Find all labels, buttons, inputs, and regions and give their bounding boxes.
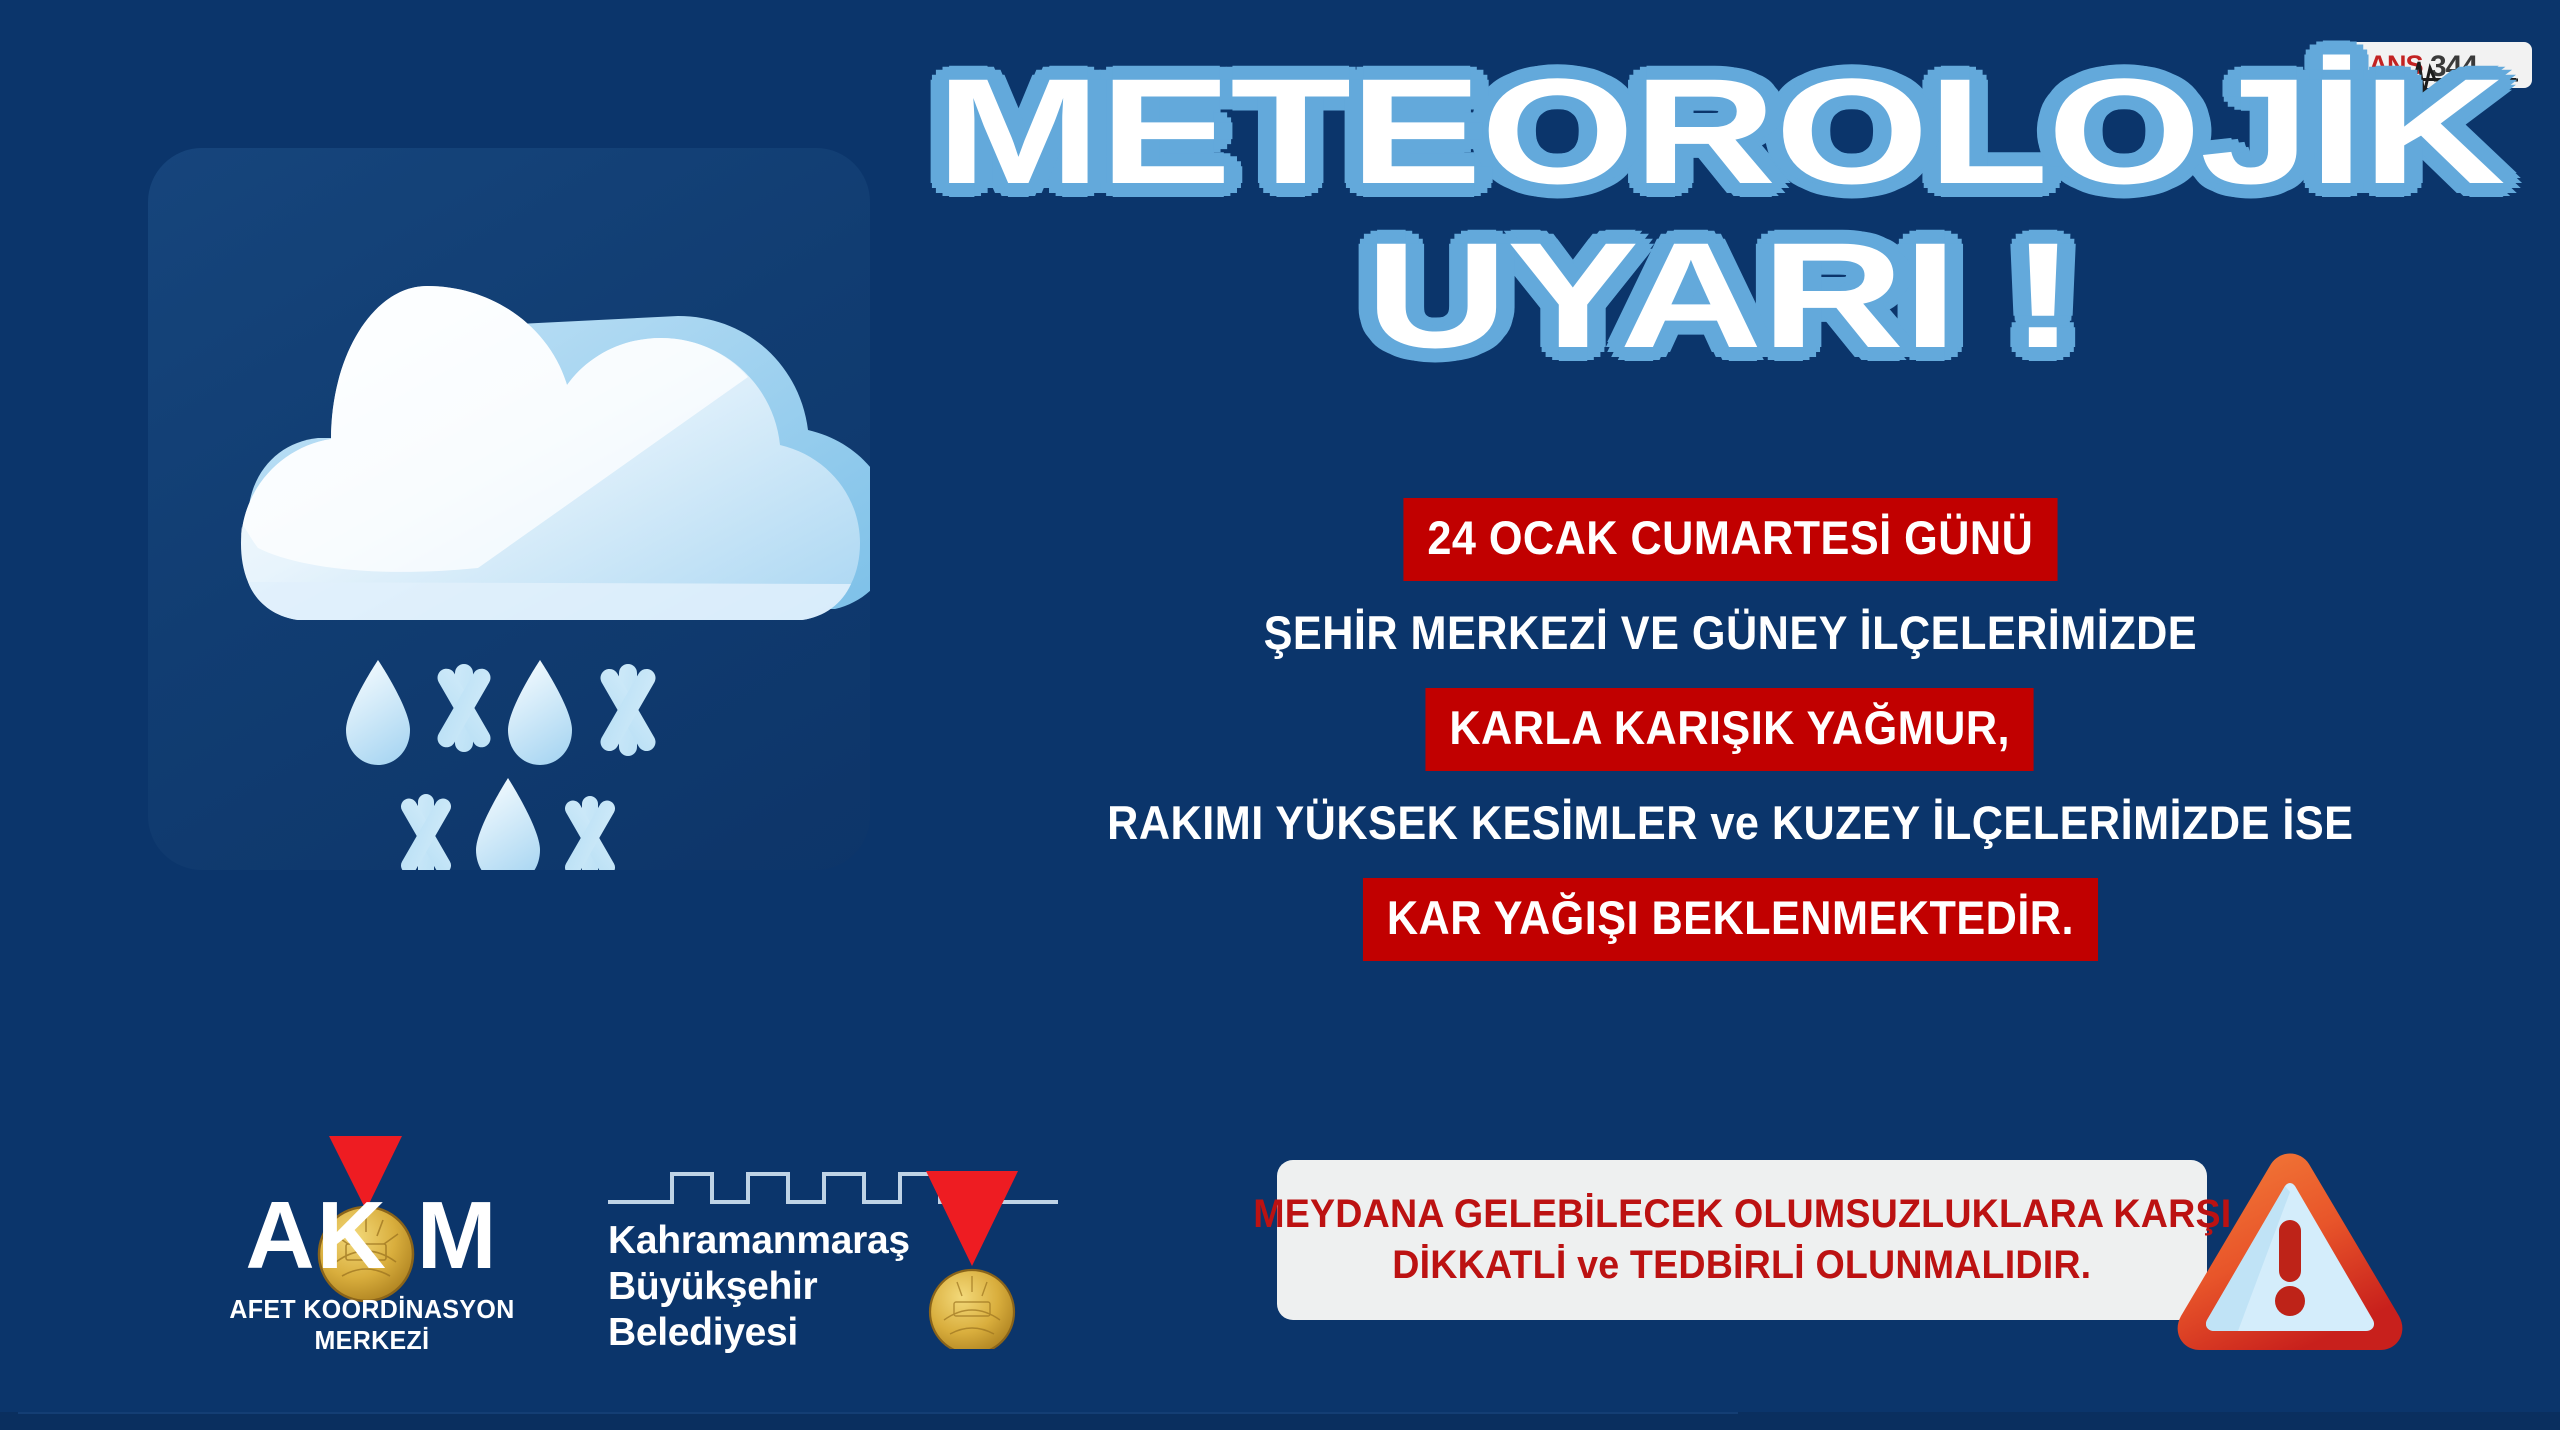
message-row: RAKIMI YÜKSEK KESİMLER ve KUZEY İLÇELERİ…: [1020, 783, 2440, 866]
message-line-date: 24 OCAK CUMARTESİ GÜNÜ: [1403, 498, 2057, 581]
message-line-sleet: KARLA KARIŞIK YAĞMUR,: [1426, 688, 2034, 771]
precipitation-row-2: [398, 778, 618, 870]
snowflake-icon: [398, 794, 454, 870]
message-row: ŞEHİR MERKEZİ VE GÜNEY İLÇELERİMİZDE: [1020, 593, 2440, 676]
message-line-region-2: RAKIMI YÜKSEK KESİMLER ve KUZEY İLÇELERİ…: [1103, 783, 2357, 866]
akom-logo[interactable]: AK M AFET KOORDİNASYON MERKEZİ: [186, 1136, 558, 1336]
warning-message-block: 24 OCAK CUMARTESİ GÜNÜ ŞEHİR MERKEZİ VE …: [1020, 498, 2440, 973]
warning-triangle-exclamation-icon: [2172, 1148, 2408, 1360]
municipality-logo[interactable]: Kahramanmaraş Büyükşehir Belediyesi: [608, 1144, 1058, 1349]
bottom-hairline: [18, 1412, 1738, 1414]
advisory-banner: MEYDANA GELEBİLECEK OLUMSUZLUKLARA KARŞI…: [1277, 1160, 2207, 1320]
bottom-strip: [0, 1412, 2560, 1430]
headline-line-1: METEOROLOJİK: [690, 62, 2560, 200]
advisory-line-2: DİKKATLİ ve TEDBİRLİ OLUNMALIDIR.: [1392, 1240, 2091, 1291]
raindrop-icon: [346, 660, 410, 765]
message-row: KAR YAĞIŞI BEKLENMEKTEDİR.: [1020, 878, 2440, 961]
precipitation-row-1: [346, 660, 659, 765]
municipality-name-line-1: Kahramanmaraş: [608, 1218, 948, 1264]
exclamation-dot: [2275, 1286, 2305, 1316]
page-title: METEOROLOJİK UYARI !: [940, 62, 2500, 364]
akom-wordmark: AK M: [186, 1184, 558, 1288]
advisory-line-1: MEYDANA GELEBİLECEK OLUMSUZLUKLARA KARŞI: [1253, 1189, 2231, 1240]
headline-line-2: UYARI !: [690, 226, 2560, 364]
message-line-snow: KAR YAĞIŞI BEKLENMEKTEDİR.: [1363, 878, 2098, 961]
message-row: 24 OCAK CUMARTESİ GÜNÜ: [1020, 498, 2440, 581]
snowflake-icon: [562, 796, 618, 870]
snowflake-icon: [434, 664, 494, 752]
exclamation-bar: [2279, 1220, 2301, 1282]
meteorological-warning-poster: AJANS 344 HABER METEOROLOJİK UYARI ! 24 …: [0, 0, 2560, 1430]
municipality-name: Kahramanmaraş Büyükşehir Belediyesi: [608, 1218, 948, 1356]
snowflake-icon: [597, 664, 659, 756]
message-row: KARLA KARIŞIK YAĞMUR,: [1020, 688, 2440, 771]
municipality-name-line-2: Büyükşehir Belediyesi: [608, 1264, 948, 1356]
akom-subtitle: AFET KOORDİNASYON MERKEZİ: [193, 1294, 550, 1356]
raindrop-icon: [476, 778, 540, 870]
message-line-region-1: ŞEHİR MERKEZİ VE GÜNEY İLÇELERİMİZDE: [1260, 593, 2201, 676]
raindrop-icon: [508, 660, 572, 765]
